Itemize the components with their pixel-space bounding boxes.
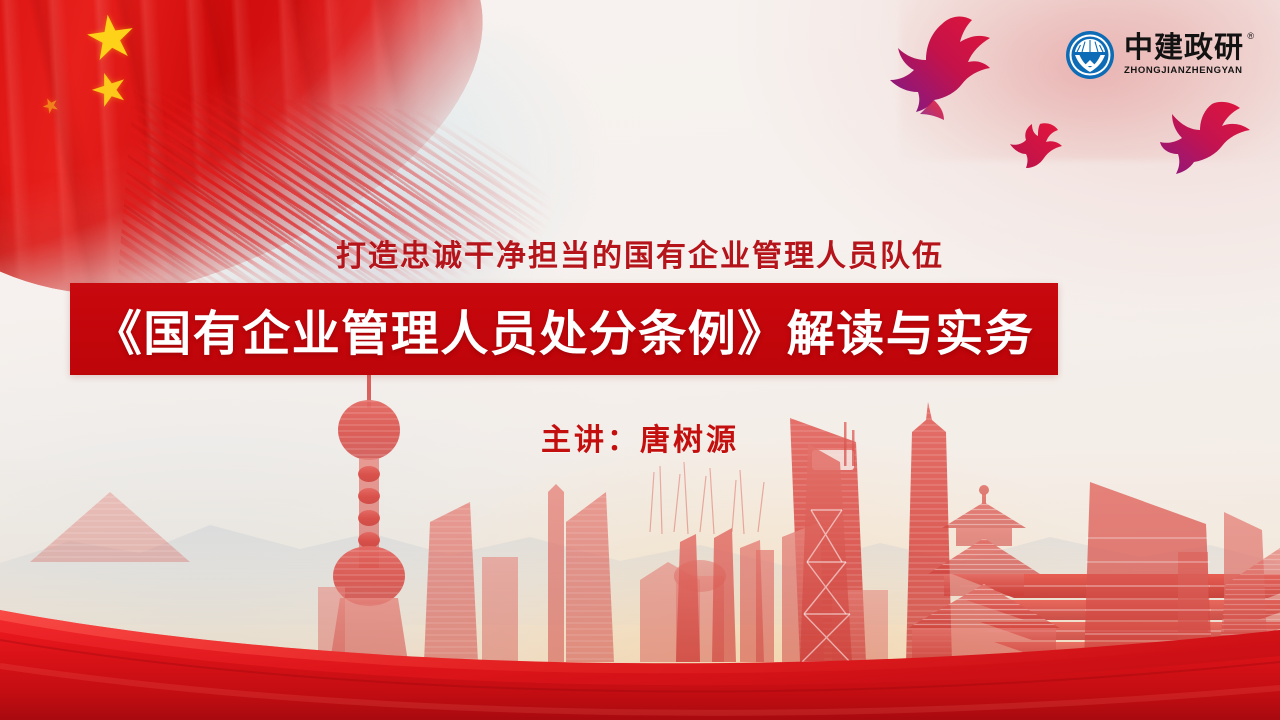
- slide-subtitle: 打造忠诚干净担当的国有企业管理人员队伍: [0, 231, 1280, 275]
- dove-small-center: [1010, 120, 1066, 170]
- logo-text-block: 中建政研® ZHONGJIANZHENGYAN: [1124, 34, 1244, 76]
- decor-reeds: [650, 462, 764, 534]
- presenter-line: 主讲：唐树源: [0, 415, 1280, 459]
- landmark-pyramid: [30, 492, 190, 562]
- company-logo: 中建政研® ZHONGJIANZHENGYAN: [1065, 30, 1244, 80]
- presentation-slide: ★ ★ ★: [0, 0, 1280, 720]
- flag-star-large: ★: [80, 5, 142, 72]
- title-banner: 《国有企业管理人员处分条例》解读与实务: [70, 283, 1058, 375]
- dove-medium-right: [1160, 100, 1256, 178]
- red-ribbon: [0, 570, 1280, 720]
- zhongjianzhengyan-logo-icon: [1065, 30, 1115, 80]
- dove-large-left: [880, 14, 1008, 124]
- registered-trademark-icon: ®: [1247, 32, 1255, 41]
- slide-title: 《国有企业管理人员处分条例》解读与实务: [94, 294, 1035, 364]
- logo-chinese-name: 中建政研®: [1124, 34, 1244, 63]
- logo-chinese-name-text: 中建政研: [1124, 32, 1244, 64]
- logo-english-name: ZHONGJIANZHENGYAN: [1124, 66, 1243, 76]
